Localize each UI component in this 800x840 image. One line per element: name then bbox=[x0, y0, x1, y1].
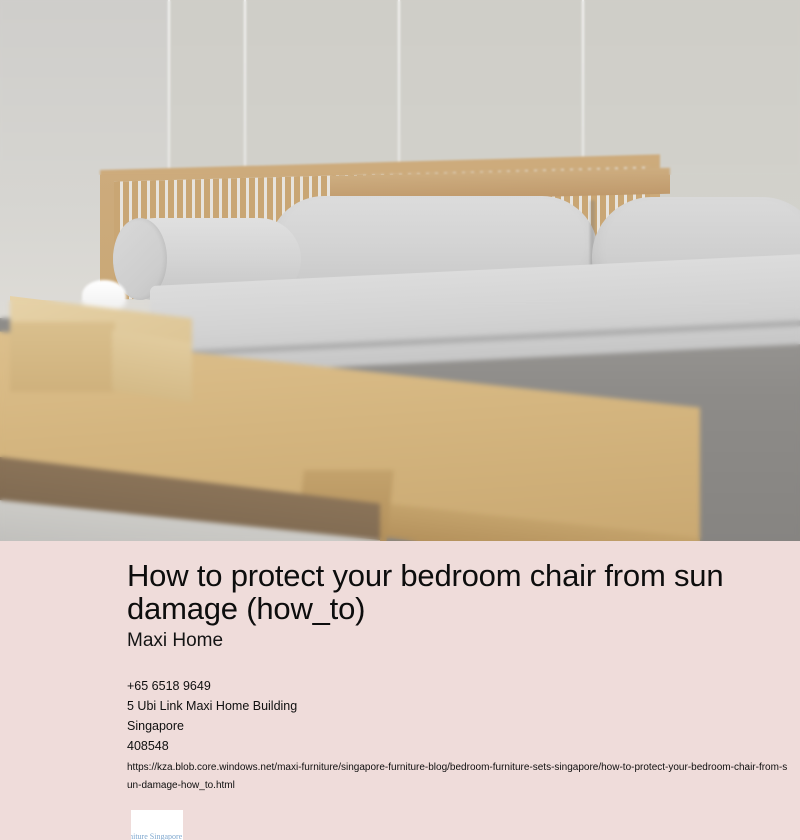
page-root: How to protect your bedroom chair from s… bbox=[0, 0, 800, 840]
content-panel: How to protect your bedroom chair from s… bbox=[0, 541, 800, 840]
company-logo[interactable]: Furniture Singapore bbox=[131, 810, 183, 840]
company-logo-text: Furniture Singapore bbox=[131, 832, 183, 840]
brand-name: Maxi Home bbox=[127, 630, 223, 652]
tissue-box-front bbox=[10, 322, 115, 392]
tissue-box-side bbox=[112, 330, 192, 403]
article-url[interactable]: https://kza.blob.core.windows.net/maxi-f… bbox=[127, 759, 789, 795]
address-line-2: Singapore bbox=[127, 716, 787, 736]
address-line-1: 5 Ubi Link Maxi Home Building bbox=[127, 696, 787, 716]
page-title: How to protect your bedroom chair from s… bbox=[127, 559, 737, 625]
contact-details: +65 6518 9649 5 Ubi Link Maxi Home Build… bbox=[127, 676, 787, 795]
postal-code: 408548 bbox=[127, 736, 787, 756]
phone-number: +65 6518 9649 bbox=[127, 676, 787, 696]
hero-photo bbox=[0, 0, 800, 541]
